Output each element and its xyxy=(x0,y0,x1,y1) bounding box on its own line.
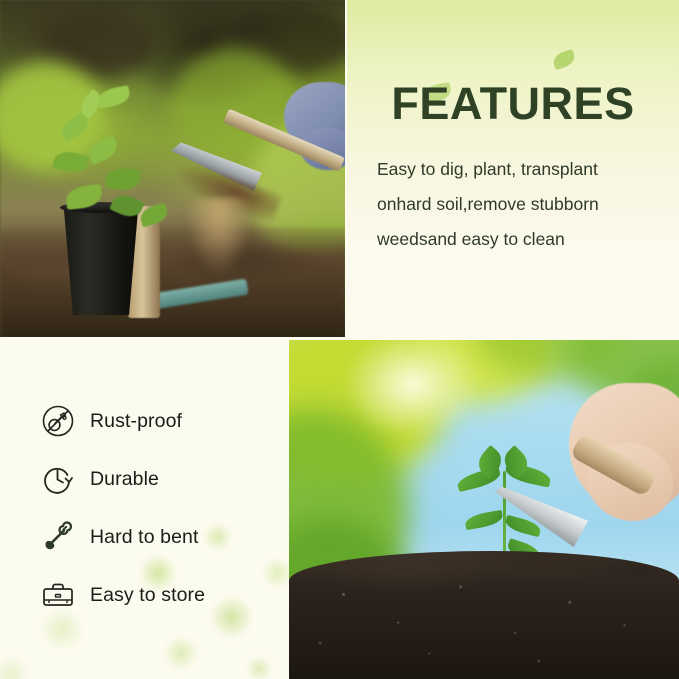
panel-divider xyxy=(345,0,347,339)
sun-glow xyxy=(343,339,483,439)
list-item: Durable xyxy=(40,459,280,499)
features-line: Easy to dig, plant, transplant xyxy=(377,152,667,187)
features-title: FEATURES xyxy=(347,78,679,130)
list-item: Hard to bent xyxy=(40,517,280,557)
features-panel: FEATURES Easy to dig, plant, transplant … xyxy=(347,0,679,339)
list-item-label: Durable xyxy=(90,468,159,491)
leaf-icon xyxy=(551,49,577,70)
panel-divider xyxy=(0,337,679,340)
list-item-label: Rust-proof xyxy=(90,410,182,433)
plant-pot xyxy=(62,205,140,315)
falling-soil xyxy=(186,198,252,276)
garden-soil xyxy=(0,227,347,339)
garden-photo xyxy=(0,0,347,339)
shovel-icon xyxy=(40,519,76,555)
product-feature-infographic: FEATURES Easy to dig, plant, transplant … xyxy=(0,0,679,679)
clock-durable-icon xyxy=(40,461,76,497)
list-item: Easy to store xyxy=(40,575,280,615)
soil-texture xyxy=(289,551,679,679)
feature-list-panel: Rust-proof Durable xyxy=(0,339,289,679)
rust-proof-icon xyxy=(40,403,76,439)
feature-list: Rust-proof Durable xyxy=(40,401,280,633)
seedling-photo xyxy=(289,339,679,679)
list-item-label: Hard to bent xyxy=(90,526,199,549)
toolbox-icon xyxy=(40,577,76,613)
list-item-label: Easy to store xyxy=(90,584,205,607)
features-description: Easy to dig, plant, transplant onhard so… xyxy=(377,152,667,257)
list-item: Rust-proof xyxy=(40,401,280,441)
features-line: weedsand easy to clean xyxy=(377,222,667,257)
features-line: onhard soil,remove stubborn xyxy=(377,187,667,222)
